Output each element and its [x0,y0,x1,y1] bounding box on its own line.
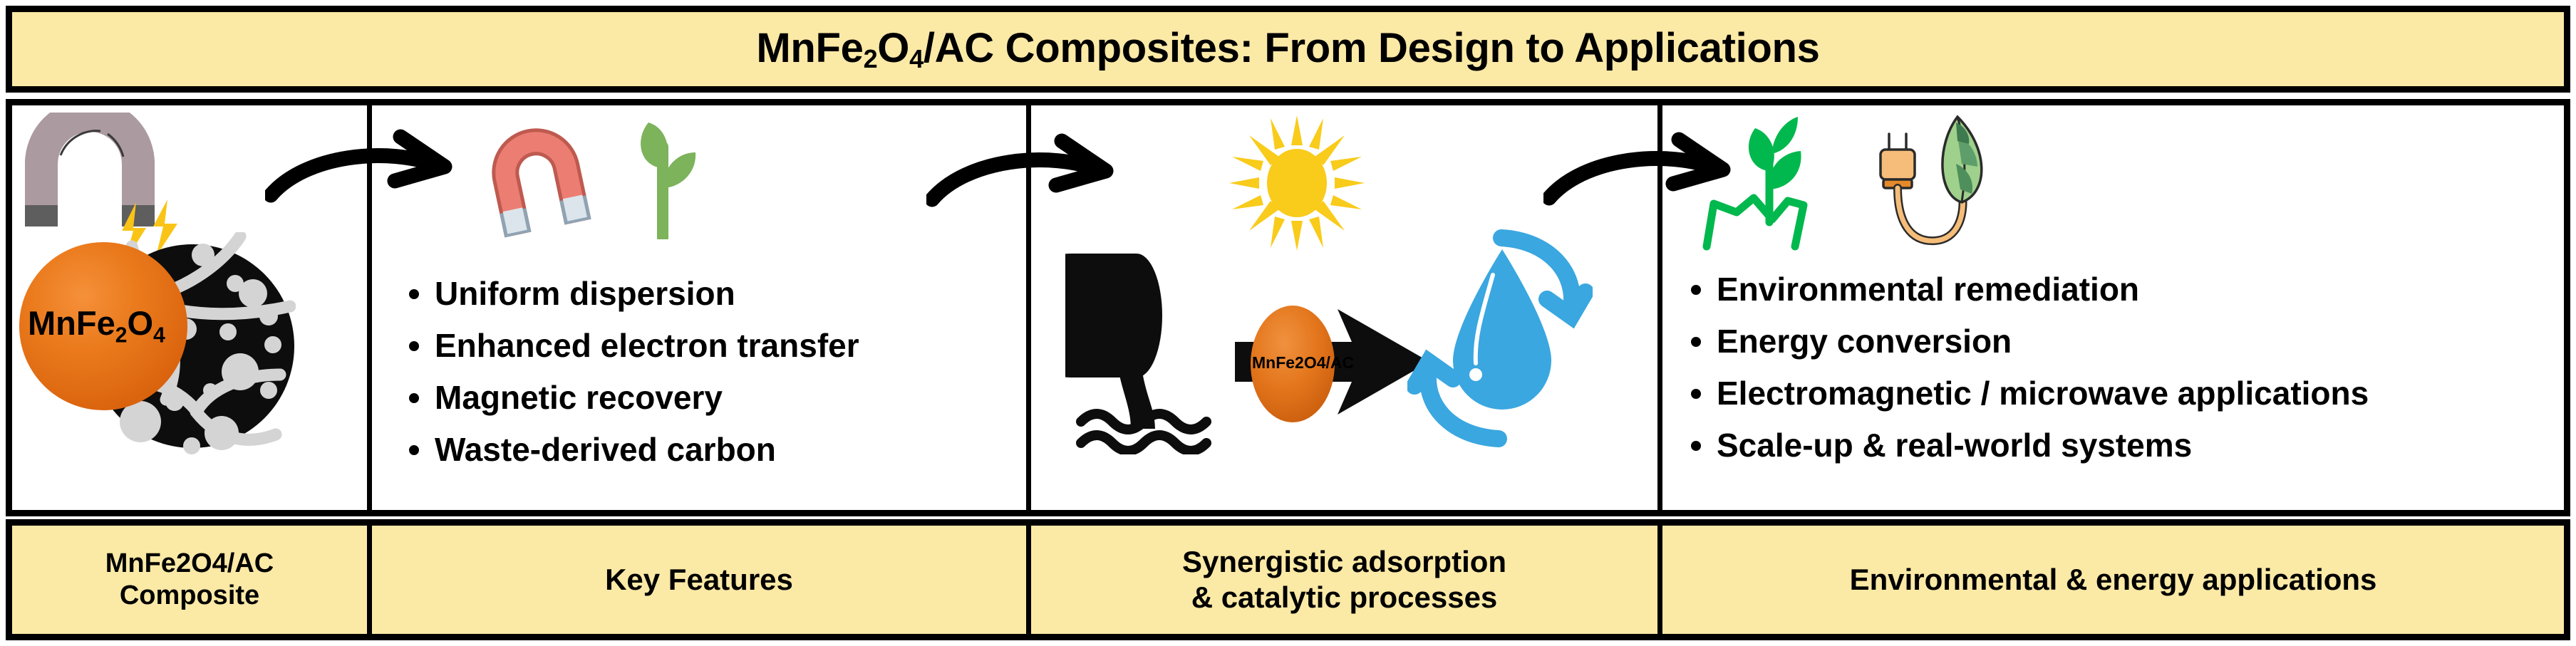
title-prefix: MnFe [756,25,863,71]
panel-strip: MnFe2O4 [6,99,2570,516]
list-item: Magnetic recovery [402,372,859,424]
hand-holding-plant-icon [1698,115,1841,251]
list-item: Uniform dispersion [402,268,859,320]
title-mid: O [877,25,909,71]
caption-applications: Environmental & energy applications [1662,526,2564,634]
caption-processes: Synergistic adsorption & catalytic proce… [1031,526,1662,634]
sun-icon [1229,115,1365,251]
ferrite-label-sub-1: 2 [115,323,128,347]
key-features-list: Uniform dispersion Enhanced electron tra… [402,268,859,476]
caption-composite: MnFe2O4/AC Composite [12,526,372,634]
page-title: MnFe2O4/AC Composites: From Design to Ap… [756,24,1819,74]
applications-list: Environmental remediation Energy convers… [1684,264,2369,472]
title-band: MnFe2O4/AC Composites: From Design to Ap… [6,6,2570,93]
list-item: Scale-up & real-world systems [1684,420,2369,472]
caption-key-features: Key Features [372,526,1031,634]
green-energy-plug-icon [1849,110,1999,252]
panel-processes: MnFe2O4/AC [1031,105,1662,510]
ferrite-label-mid: O [127,304,153,342]
ferrite-label-prefix: MnFe [28,304,115,342]
title-sub-2: 4 [909,44,924,73]
list-item: Waste-derived carbon [402,424,859,476]
graphical-abstract: MnFe2O4/AC Composites: From Design to Ap… [0,0,2576,646]
title-sub-1: 2 [864,44,878,73]
list-item: Environmental remediation [1684,264,2369,316]
wastewater-pipe-icon [1065,248,1243,454]
title-suffix: /AC Composites: From Design to Applicati… [924,25,1820,71]
list-item: Electromagnetic / microwave applications [1684,368,2369,420]
caption-strip: MnFe2O4/AC Composite Key Features Synerg… [6,519,2570,640]
horseshoe-magnet-red-icon [485,125,591,238]
catalyst-ellipse-label: MnFe2O4/AC [1252,353,1335,373]
caption-line: MnFe2O4/AC [105,548,274,580]
recycle-arrows-icon [1407,225,1593,453]
caption-line: Composite [105,580,274,612]
ferrite-label-sub-2: 4 [153,323,165,347]
list-item: Energy conversion [1684,316,2369,368]
panel-composite: MnFe2O4 [12,105,372,510]
ferrite-sphere-label: MnFe2O4 [28,303,165,348]
caption-line: Synergistic adsorption [1182,544,1506,580]
caption-line: & catalytic processes [1182,580,1506,615]
seedling-icon [627,118,705,239]
list-item: Enhanced electron transfer [402,320,859,372]
panel-key-features: Uniform dispersion Enhanced electron tra… [372,105,1031,510]
panel-applications: Environmental remediation Energy convers… [1662,105,2564,510]
